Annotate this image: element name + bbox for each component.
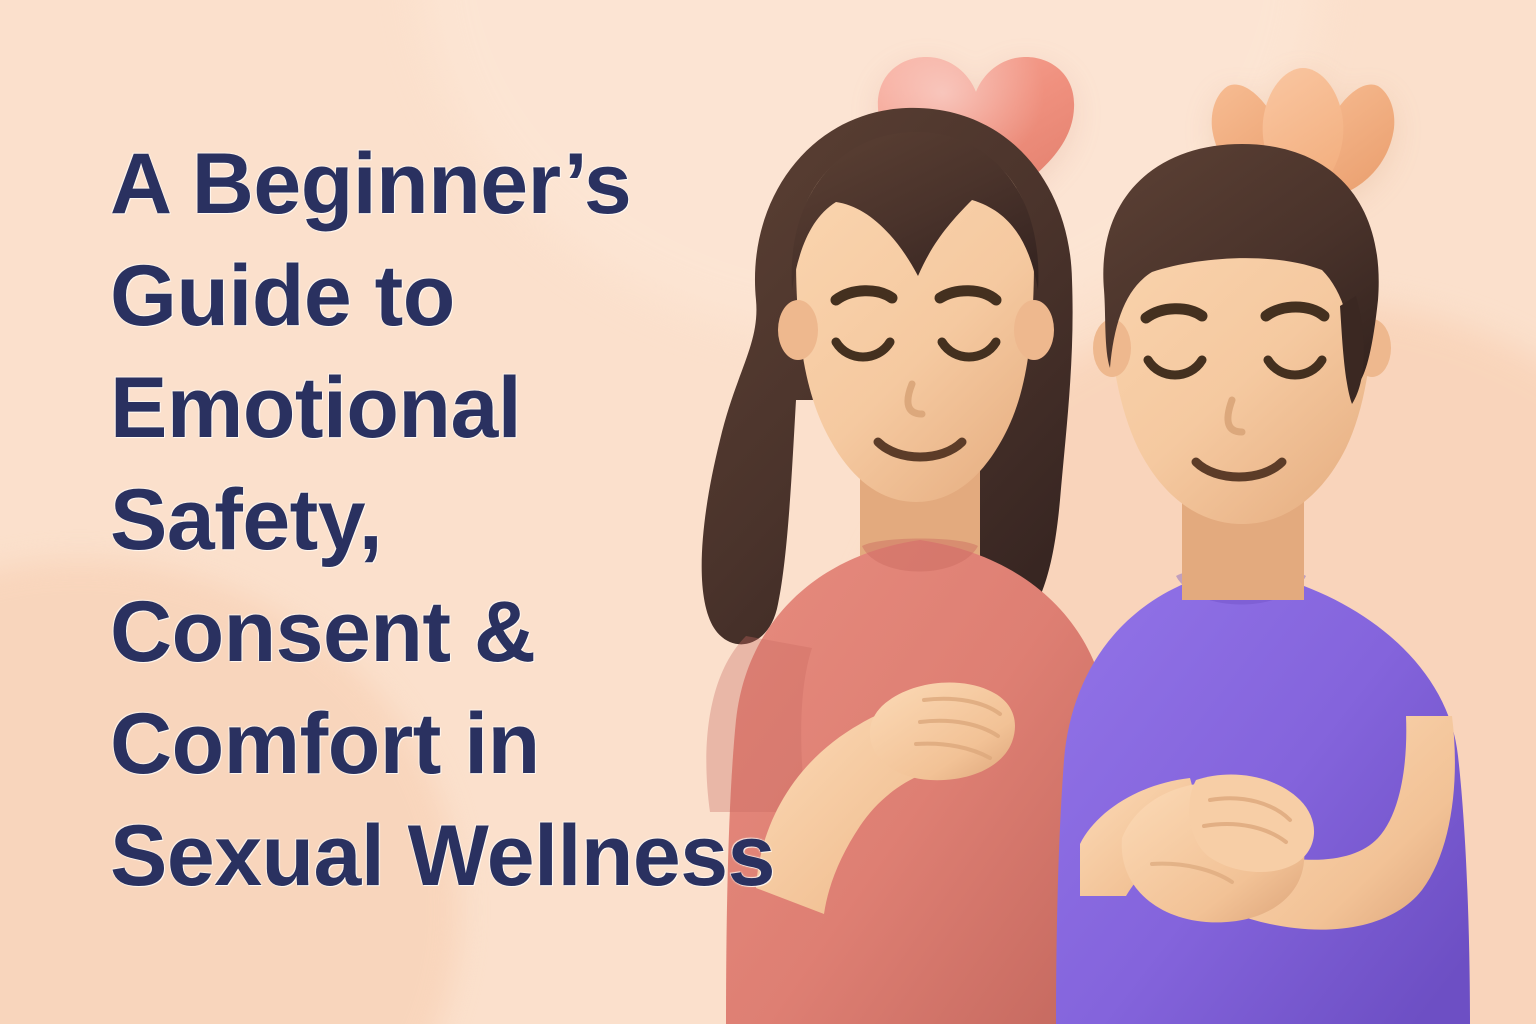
headline-line-2: Guide to [110,240,870,352]
man-figure [1056,144,1470,1024]
banner-canvas: A Beginner’s Guide to Emotional Safety, … [0,0,1536,1024]
headline-line-6: Comfort in [110,688,870,800]
headline-line-7: Sexual Wellness [110,800,870,912]
headline-line-1: A Beginner’s [110,128,870,240]
page-title: A Beginner’s Guide to Emotional Safety, … [110,128,870,912]
headline-line-5: Consent & [110,576,870,688]
headline-line-3: Emotional [110,352,870,464]
headline-line-4: Safety, [110,464,870,576]
